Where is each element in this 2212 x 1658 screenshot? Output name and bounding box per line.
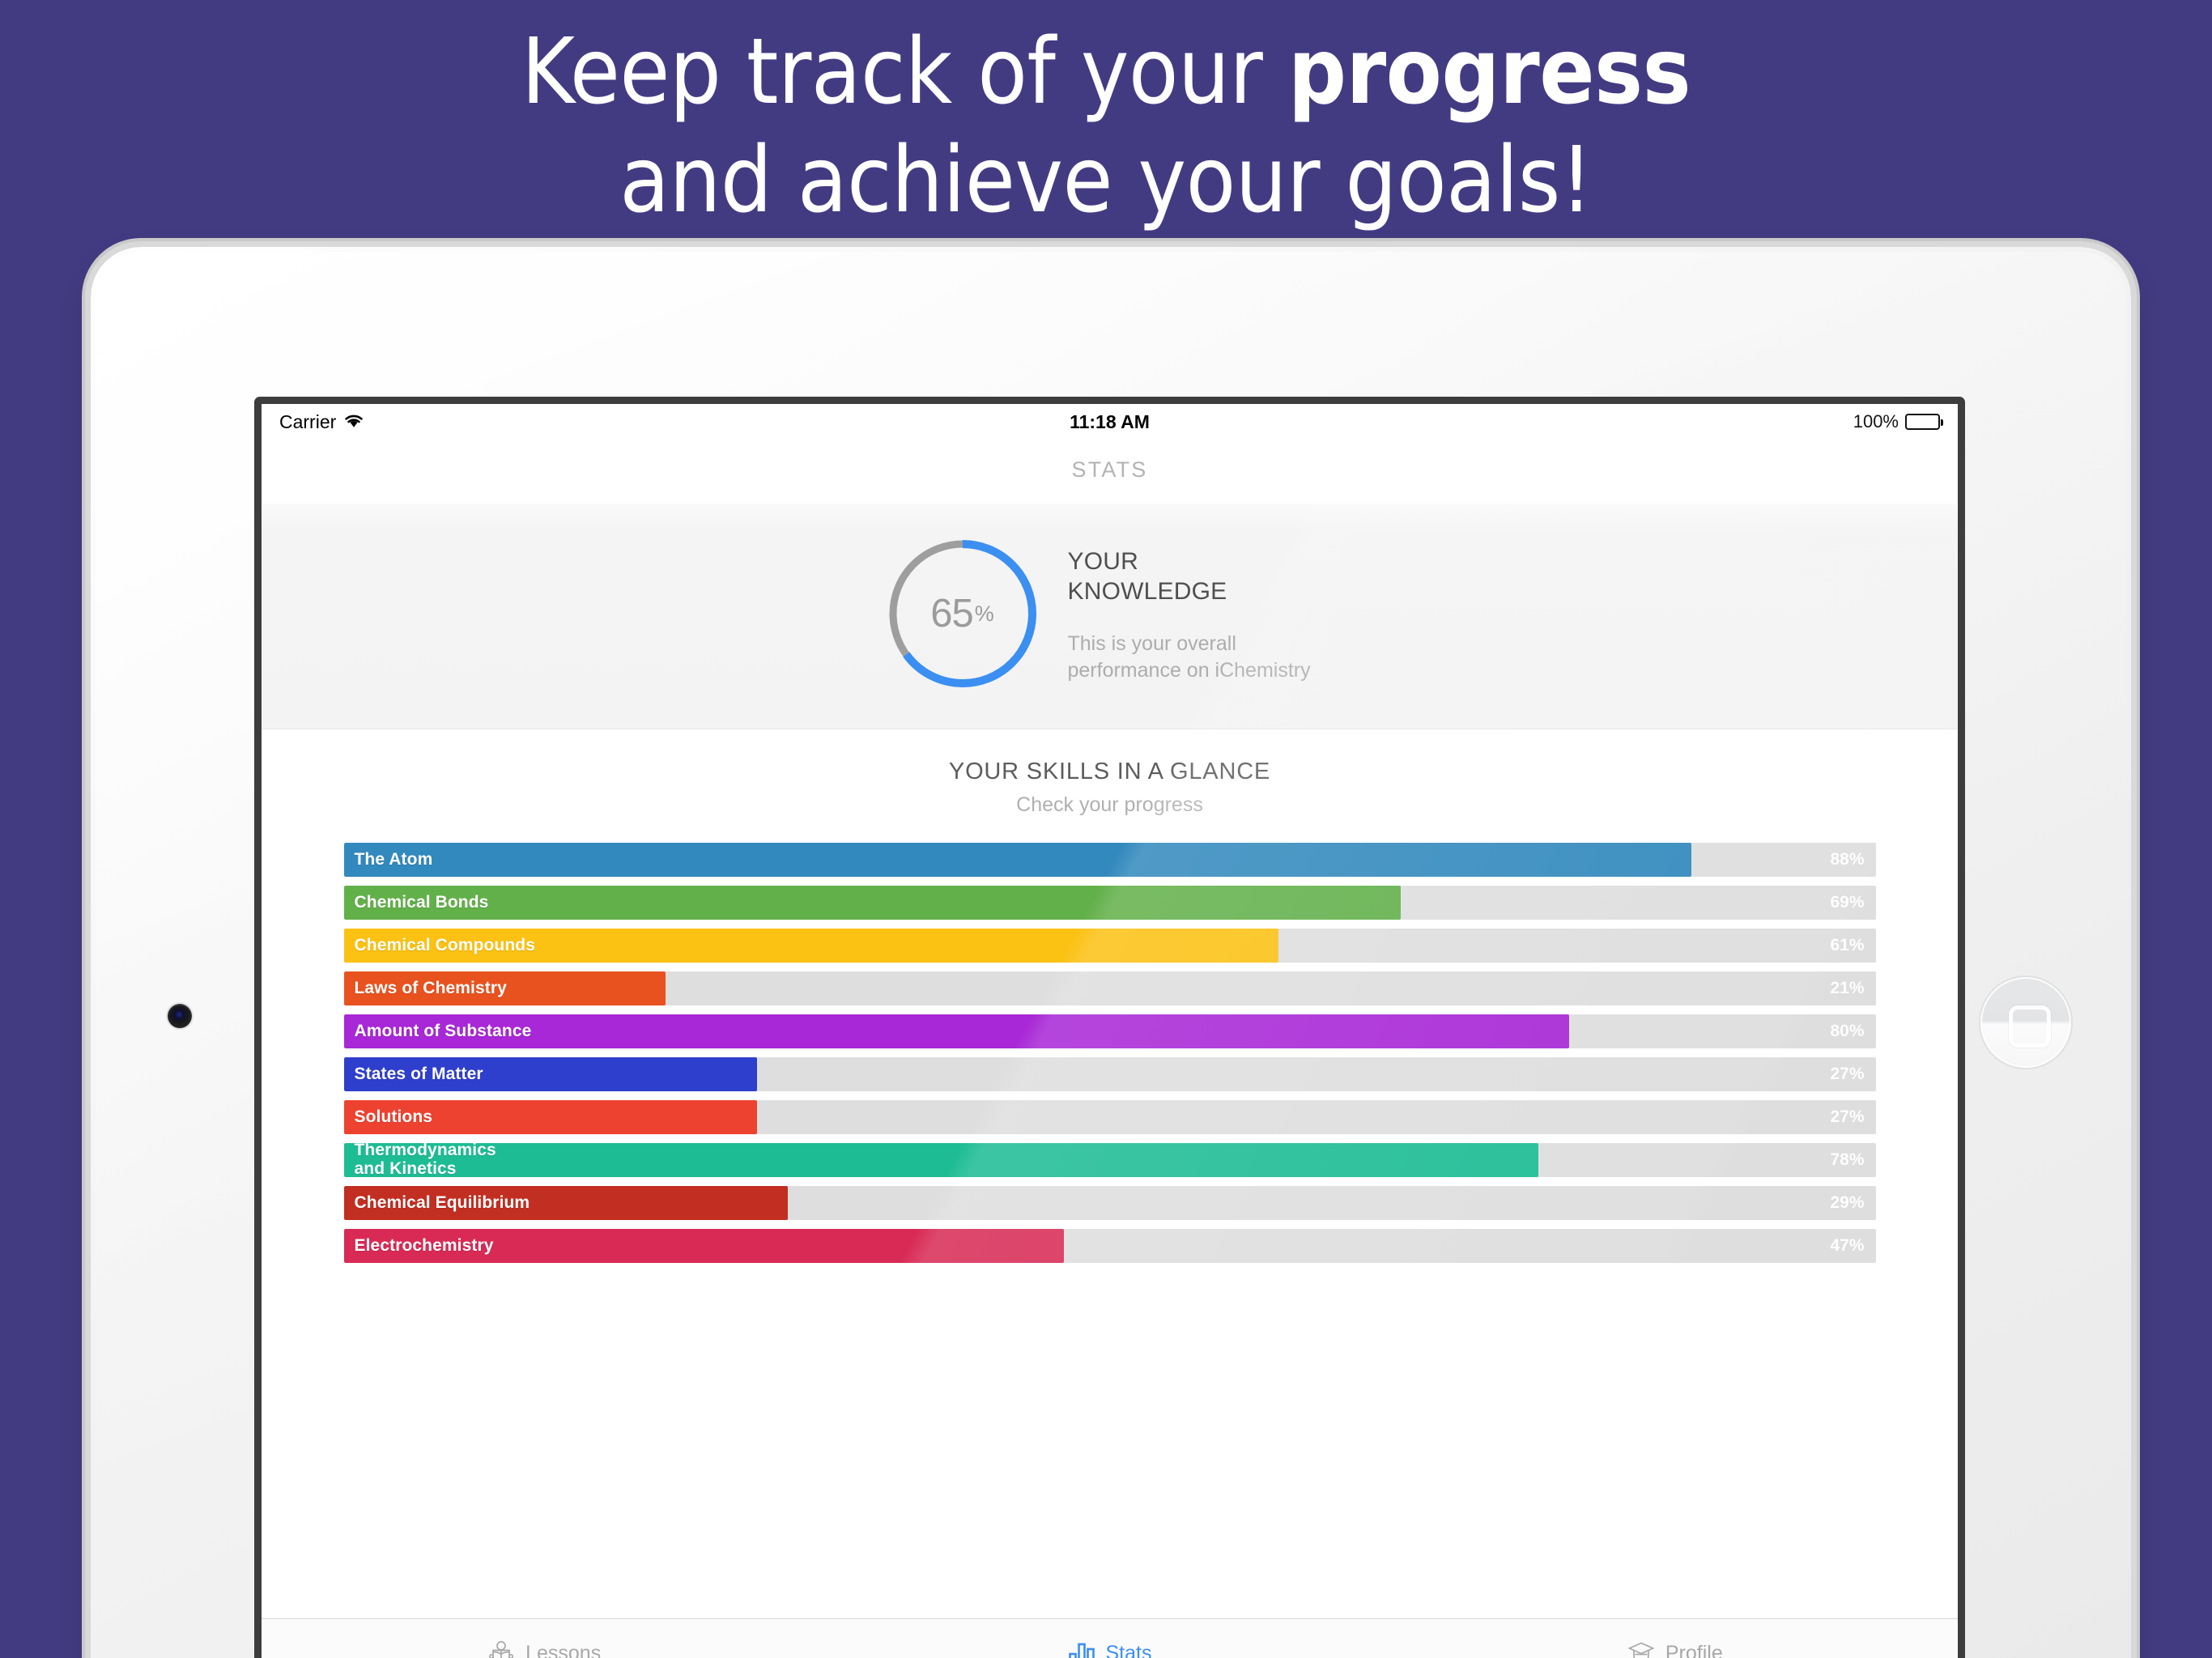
home-button[interactable]: [1980, 977, 2071, 1068]
skill-bar-row[interactable]: Laws of Chemistry21%: [344, 971, 1876, 1005]
headline-line-1: Keep track of your progress: [0, 18, 2212, 126]
skills-subtitle: Check your progress: [262, 793, 1958, 817]
headline-line-2: and achieve your goals!: [0, 126, 2212, 235]
skill-bar-label: Chemical Bonds: [355, 886, 489, 920]
skill-bar-label: Thermodynamics and Kinetics: [355, 1143, 496, 1177]
skill-bar-percent: 47%: [1830, 1229, 1864, 1263]
knowledge-percent-value: 65: [930, 591, 973, 636]
skill-bar-label: Electrochemistry: [355, 1229, 494, 1263]
skill-bar-label: Laws of Chemistry: [355, 971, 507, 1005]
tab-label: Lessons: [525, 1642, 601, 1658]
page-title: STATS: [262, 440, 1958, 504]
skills-bar-chart: The Atom88%Chemical Bonds69%Chemical Com…: [344, 843, 1876, 1263]
tab-profile[interactable]: Profile: [1393, 1619, 1958, 1658]
lessons-book-icon: [487, 1640, 515, 1658]
skill-bar-row[interactable]: Chemical Equilibrium29%: [344, 1186, 1876, 1220]
skill-bar-percent: 27%: [1830, 1057, 1864, 1091]
skills-title: YOUR SKILLS IN A GLANCE: [262, 759, 1958, 785]
skill-bar-percent: 88%: [1830, 843, 1864, 877]
knowledge-title: YOUR KNOWLEDGE: [1068, 547, 1335, 606]
skill-bar-fill: [344, 886, 1401, 920]
profile-graduate-icon: [1627, 1640, 1655, 1658]
skill-bar-percent: 27%: [1830, 1100, 1864, 1134]
ipad-device: Carrier 11:18 AM 100%: [91, 247, 2131, 1658]
front-camera-icon: [168, 1004, 192, 1028]
knowledge-inner: 65 % YOUR KNOWLEDGE This is your overall…: [885, 536, 1335, 691]
skill-bar-label: States of Matter: [355, 1057, 483, 1091]
skills-section: YOUR SKILLS IN A GLANCE Check your progr…: [262, 729, 1958, 1263]
headline-line-1-strong: progress: [1288, 19, 1691, 125]
skill-bar-row[interactable]: Chemical Compounds61%: [344, 929, 1876, 963]
tab-bar: LessonsStatsProfile: [262, 1618, 1958, 1658]
knowledge-progress-ring: 65 %: [885, 536, 1040, 691]
skill-bar-row[interactable]: Amount of Substance80%: [344, 1014, 1876, 1048]
knowledge-panel: 65 % YOUR KNOWLEDGE This is your overall…: [262, 504, 1958, 729]
skill-bar-label: Chemical Equilibrium: [355, 1186, 530, 1220]
app-screen: Carrier 11:18 AM 100%: [262, 404, 1958, 1658]
skill-bar-percent: 29%: [1830, 1186, 1864, 1220]
knowledge-percent-symbol: %: [973, 602, 994, 627]
headline-line-1-normal: Keep track of your: [521, 19, 1288, 125]
skill-bar-row[interactable]: Chemical Bonds69%: [344, 886, 1876, 920]
screen-bezel: Carrier 11:18 AM 100%: [254, 397, 1965, 1658]
skill-bar-row[interactable]: Electrochemistry47%: [344, 1229, 1876, 1263]
skill-bar-percent: 21%: [1830, 971, 1864, 1005]
skill-bar-percent: 78%: [1830, 1143, 1864, 1177]
tab-stats[interactable]: Stats: [827, 1619, 1392, 1658]
knowledge-text-block: YOUR KNOWLEDGE This is your overall perf…: [1068, 536, 1335, 683]
skill-bar-percent: 69%: [1830, 886, 1864, 920]
tab-label: Profile: [1665, 1642, 1723, 1658]
skill-bar-percent: 61%: [1830, 929, 1864, 963]
stats-bars-icon: [1068, 1641, 1095, 1658]
skill-bar-label: The Atom: [355, 843, 433, 877]
skill-bar-label: Chemical Compounds: [355, 929, 536, 963]
knowledge-percent-label: 65 %: [885, 536, 1040, 691]
skill-bar-row[interactable]: States of Matter27%: [344, 1057, 1876, 1091]
skill-bar-label: Amount of Substance: [355, 1014, 532, 1048]
skill-bar-percent: 80%: [1830, 1014, 1864, 1048]
skill-bar-fill: [344, 1143, 1539, 1177]
tab-label: Stats: [1106, 1642, 1152, 1658]
battery-icon: [1905, 414, 1940, 430]
knowledge-title-line1: YOUR: [1068, 547, 1335, 577]
skill-bar-row[interactable]: Solutions27%: [344, 1100, 1876, 1134]
tab-lessons[interactable]: Lessons: [262, 1619, 827, 1658]
knowledge-description: This is your overall performance on iChe…: [1068, 631, 1335, 683]
status-bar-time: 11:18 AM: [262, 404, 1958, 440]
skill-bar-row[interactable]: Thermodynamics and Kinetics78%: [344, 1143, 1876, 1177]
promo-headline: Keep track of your progress and achieve …: [0, 18, 2212, 236]
skill-bar-fill: [344, 843, 1692, 877]
status-bar: Carrier 11:18 AM 100%: [262, 404, 1958, 440]
knowledge-title-line2: KNOWLEDGE: [1068, 577, 1335, 607]
skill-bar-row[interactable]: The Atom88%: [344, 843, 1876, 877]
skill-bar-label: Solutions: [355, 1100, 433, 1134]
